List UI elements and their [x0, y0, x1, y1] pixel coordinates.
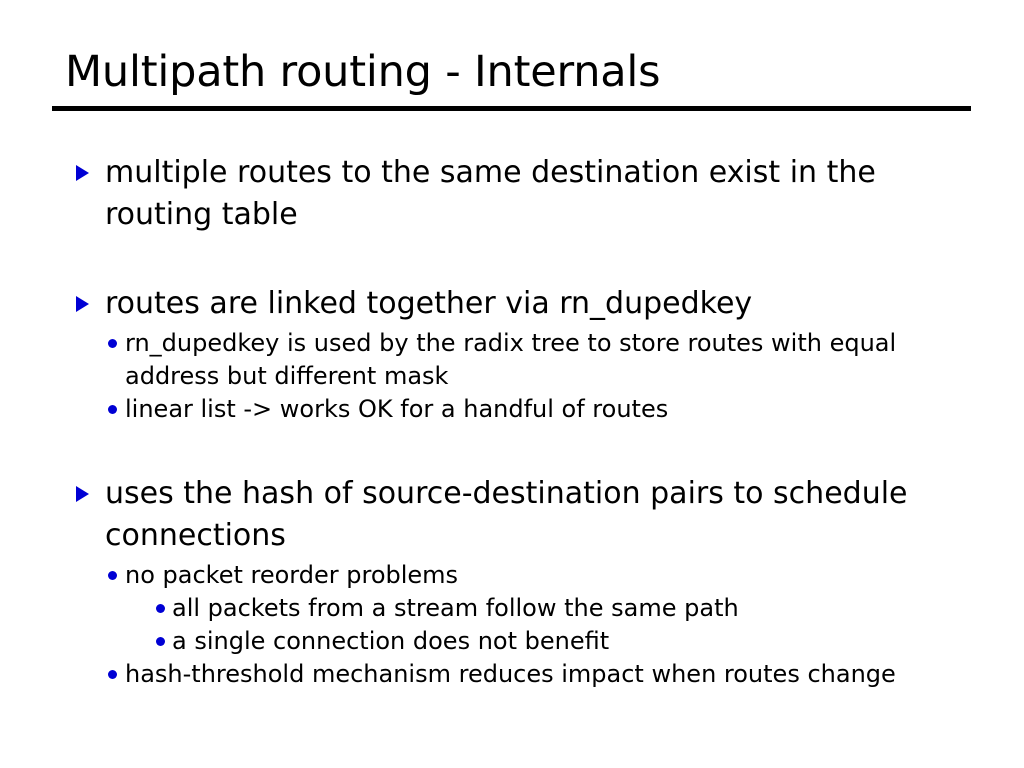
dot-bullet-icon — [156, 637, 165, 646]
bullet-level3-text: all packets from a stream follow the sam… — [172, 594, 739, 622]
bullet-level2-text: rn_dupedkey is used by the radix tree to… — [125, 329, 896, 390]
bullet-level1-text: multiple routes to the same destination … — [105, 155, 876, 232]
bullet-level2-text: linear list -> works OK for a handful of… — [125, 395, 668, 423]
bullet-level3: all packets from a stream follow the sam… — [0, 592, 1024, 625]
bullet-level1-text: routes are linked together via rn_dupedk… — [105, 286, 752, 321]
slide-body: multiple routes to the same destination … — [0, 152, 1024, 691]
bullet-level2-text: hash-threshold mechanism reduces impact … — [125, 660, 896, 688]
bullet-level2: hash-threshold mechanism reduces impact … — [0, 658, 1024, 691]
bullet-group: routes are linked together via rn_dupedk… — [0, 283, 1024, 426]
triangle-bullet-icon — [76, 165, 89, 181]
dot-bullet-icon — [108, 339, 117, 348]
page-title: Multipath routing - Internals — [52, 46, 972, 98]
triangle-bullet-icon — [76, 296, 89, 312]
slide-title-block: Multipath routing - Internals — [52, 46, 972, 111]
bullet-level1: uses the hash of source-destination pair… — [0, 473, 1024, 557]
dot-bullet-icon — [108, 670, 117, 679]
triangle-bullet-icon — [76, 486, 89, 502]
bullet-level1: routes are linked together via rn_dupedk… — [0, 283, 1024, 325]
bullet-group: multiple routes to the same destination … — [0, 152, 1024, 236]
bullet-level2-text: no packet reorder problems — [125, 561, 458, 589]
slide: Multipath routing - Internals multiple r… — [0, 0, 1024, 768]
bullet-level3-text: a single connection does not benefit — [172, 627, 609, 655]
dot-bullet-icon — [108, 571, 117, 580]
bullet-level3: a single connection does not benefit — [0, 625, 1024, 658]
bullet-level2: rn_dupedkey is used by the radix tree to… — [0, 327, 1024, 393]
bullet-level2: no packet reorder problems — [0, 559, 1024, 592]
title-divider — [52, 106, 971, 111]
bullet-group: uses the hash of source-destination pair… — [0, 473, 1024, 691]
dot-bullet-icon — [108, 405, 117, 414]
bullet-level1: multiple routes to the same destination … — [0, 152, 1024, 236]
bullet-level2: linear list -> works OK for a handful of… — [0, 393, 1024, 426]
bullet-level1-text: uses the hash of source-destination pair… — [105, 476, 908, 553]
dot-bullet-icon — [156, 604, 165, 613]
